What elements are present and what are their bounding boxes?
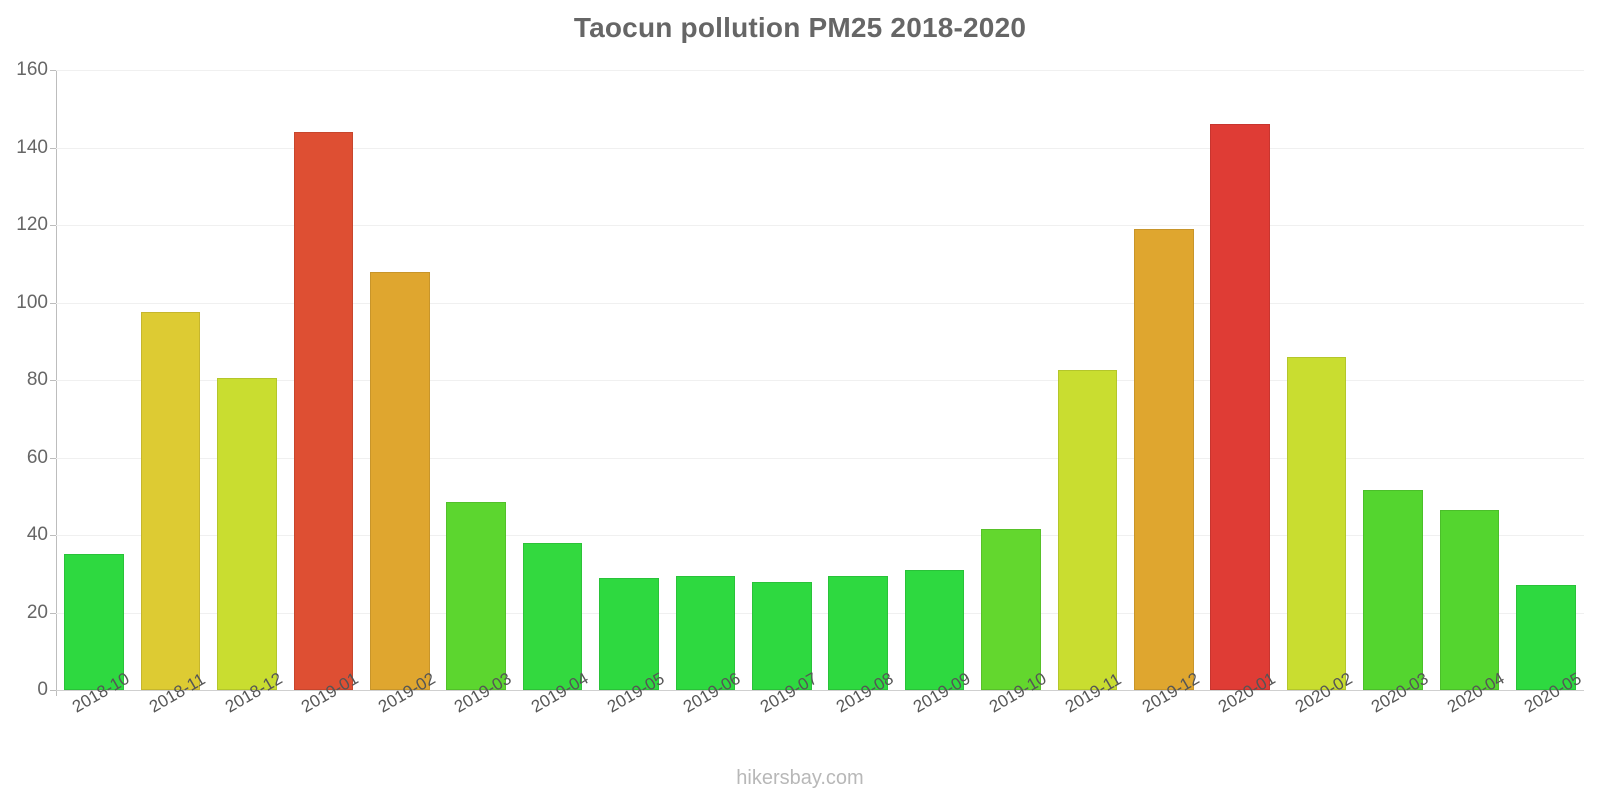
y-tick-mark-160 xyxy=(50,70,56,71)
y-tick-mark-60 xyxy=(50,458,56,459)
y-tick-mark-100 xyxy=(50,303,56,304)
y-tick-label-60: 60 xyxy=(4,447,48,469)
bar-2019-03[interactable] xyxy=(446,502,506,690)
bar-2019-10[interactable] xyxy=(981,529,1041,690)
y-tick-label-20: 20 xyxy=(4,602,48,624)
bar-2020-03[interactable] xyxy=(1363,490,1423,690)
y-tick-label-140: 140 xyxy=(4,137,48,159)
footer-credit: hikersbay.com xyxy=(0,767,1600,790)
x-axis-labels: 2018-102018-112018-122019-012019-022019-… xyxy=(56,690,1584,770)
chart-container: Taocun pollution PM25 2018-2020 02040608… xyxy=(0,0,1600,800)
y-tick-label-160: 160 xyxy=(4,59,48,81)
y-tick-label-0: 0 xyxy=(4,679,48,701)
bar-2018-12[interactable] xyxy=(217,378,277,690)
bar-2019-04[interactable] xyxy=(523,543,583,690)
y-tick-mark-120 xyxy=(50,225,56,226)
y-tick-mark-20 xyxy=(50,613,56,614)
y-tick-label-40: 40 xyxy=(4,524,48,546)
bars-group xyxy=(56,70,1584,690)
bar-2020-02[interactable] xyxy=(1287,357,1347,690)
chart-title: Taocun pollution PM25 2018-2020 xyxy=(0,12,1600,44)
y-tick-label-120: 120 xyxy=(4,214,48,236)
bar-2019-09[interactable] xyxy=(905,570,965,690)
bar-2019-12[interactable] xyxy=(1134,229,1194,690)
bar-2019-02[interactable] xyxy=(370,272,430,691)
plot-area xyxy=(56,70,1584,690)
bar-2018-11[interactable] xyxy=(141,312,201,690)
y-tick-mark-40 xyxy=(50,535,56,536)
bar-2019-01[interactable] xyxy=(294,132,354,690)
bar-2020-04[interactable] xyxy=(1440,510,1500,690)
y-tick-label-80: 80 xyxy=(4,369,48,391)
y-tick-mark-140 xyxy=(50,148,56,149)
y-tick-mark-80 xyxy=(50,380,56,381)
bar-2020-01[interactable] xyxy=(1210,124,1270,690)
bar-2018-10[interactable] xyxy=(64,554,124,690)
y-tick-label-100: 100 xyxy=(4,292,48,314)
bar-2019-11[interactable] xyxy=(1058,370,1118,690)
